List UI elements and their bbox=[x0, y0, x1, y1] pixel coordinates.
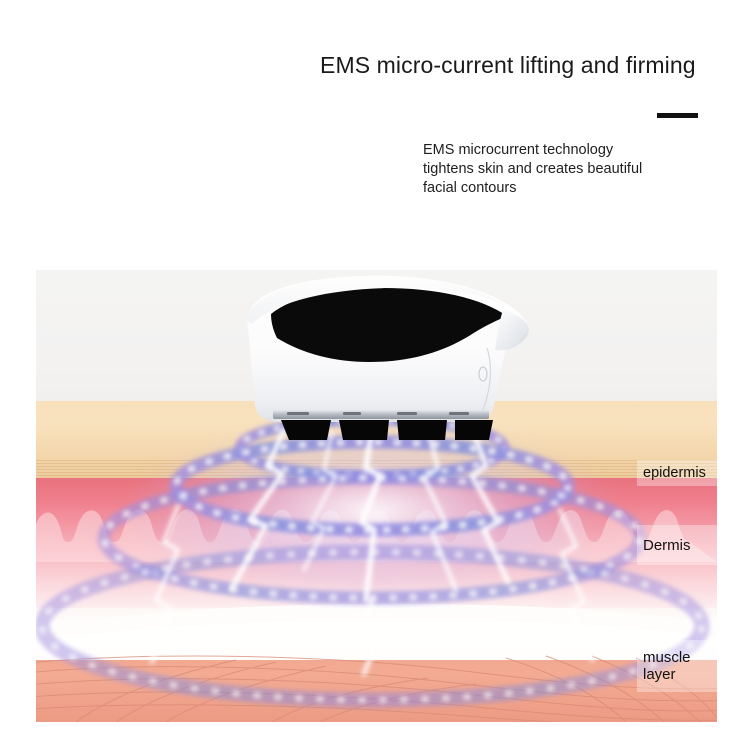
label-dermis: Dermis bbox=[637, 525, 717, 565]
skin-cross-section-illustration: epidermis Dermis muscle layer bbox=[36, 270, 717, 722]
subtitle-line-1: EMS microcurrent technology bbox=[423, 141, 691, 160]
subtitle-block: EMS microcurrent technology tightens ski… bbox=[423, 141, 691, 198]
subtitle-line-3: facial contours bbox=[423, 179, 691, 198]
dermis-wave-boundary bbox=[36, 502, 717, 562]
label-epidermis: epidermis bbox=[637, 460, 717, 486]
label-muscle-text-line2: layer bbox=[643, 666, 691, 683]
ems-facial-device[interactable] bbox=[231, 270, 541, 445]
electrode-2 bbox=[339, 420, 389, 440]
divider-rule bbox=[657, 113, 698, 118]
subtitle-line-2: tightens skin and creates beautiful bbox=[423, 160, 691, 179]
device-electrodes bbox=[281, 420, 493, 440]
epidermis-striations bbox=[36, 460, 717, 478]
muscle-fibre-texture bbox=[36, 648, 717, 722]
header-block: EMS micro-current lifting and firming EM… bbox=[0, 0, 750, 270]
label-epidermis-text: epidermis bbox=[643, 465, 706, 482]
label-muscle: muscle layer bbox=[637, 640, 717, 692]
page-title: EMS micro-current lifting and firming bbox=[320, 52, 696, 79]
electrode-4 bbox=[455, 420, 493, 440]
label-dermis-text: Dermis bbox=[643, 537, 691, 554]
label-muscle-text-line1: muscle bbox=[643, 649, 691, 666]
electrode-3 bbox=[397, 420, 447, 440]
electrode-1 bbox=[281, 420, 331, 440]
